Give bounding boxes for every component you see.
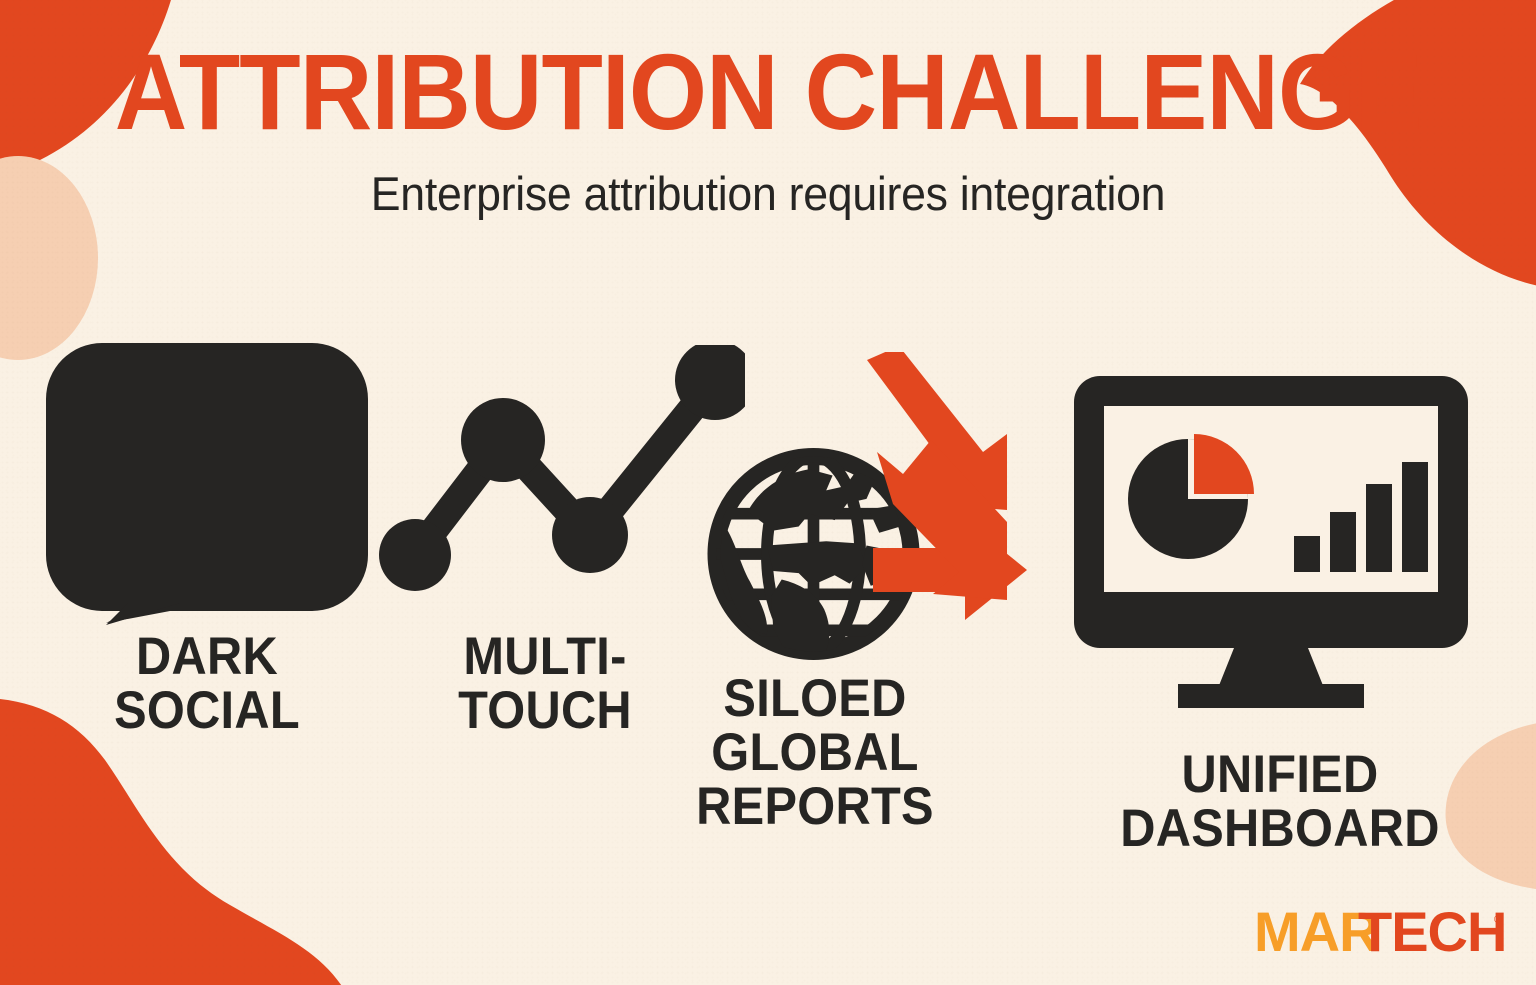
flow-label-unified-dashboard: UNIFIED DASHBOARD — [1119, 748, 1441, 856]
line-chart-icon — [375, 345, 745, 600]
flow-node-unified-dashboard — [1066, 368, 1476, 708]
monitor-dashboard-icon — [1066, 368, 1476, 708]
infographic-poster: ATTRIBUTION CHALLENGE Enterprise attribu… — [0, 0, 1536, 985]
flow-node-dark-social — [42, 335, 372, 625]
martech-logo[interactable]: MAR TECH ® — [1254, 901, 1506, 963]
header: ATTRIBUTION CHALLENGE Enterprise attribu… — [0, 38, 1536, 221]
flow-node-multi-touch — [375, 345, 745, 600]
speech-bubble-icon — [42, 335, 372, 625]
martech-wordmark-icon: MAR TECH ® — [1254, 901, 1506, 963]
flow-connectors — [855, 352, 1055, 742]
logo-part-two: TECH — [1358, 901, 1506, 963]
logo-trademark: ® — [1494, 914, 1502, 926]
page-subtitle: Enterprise attribution requires integrat… — [38, 166, 1497, 221]
page-title: ATTRIBUTION CHALLENGE — [54, 38, 1482, 146]
flow-label-dark-social: DARK SOCIAL — [46, 630, 368, 738]
flow-label-multi-touch: MULTI- TOUCH — [412, 630, 679, 738]
